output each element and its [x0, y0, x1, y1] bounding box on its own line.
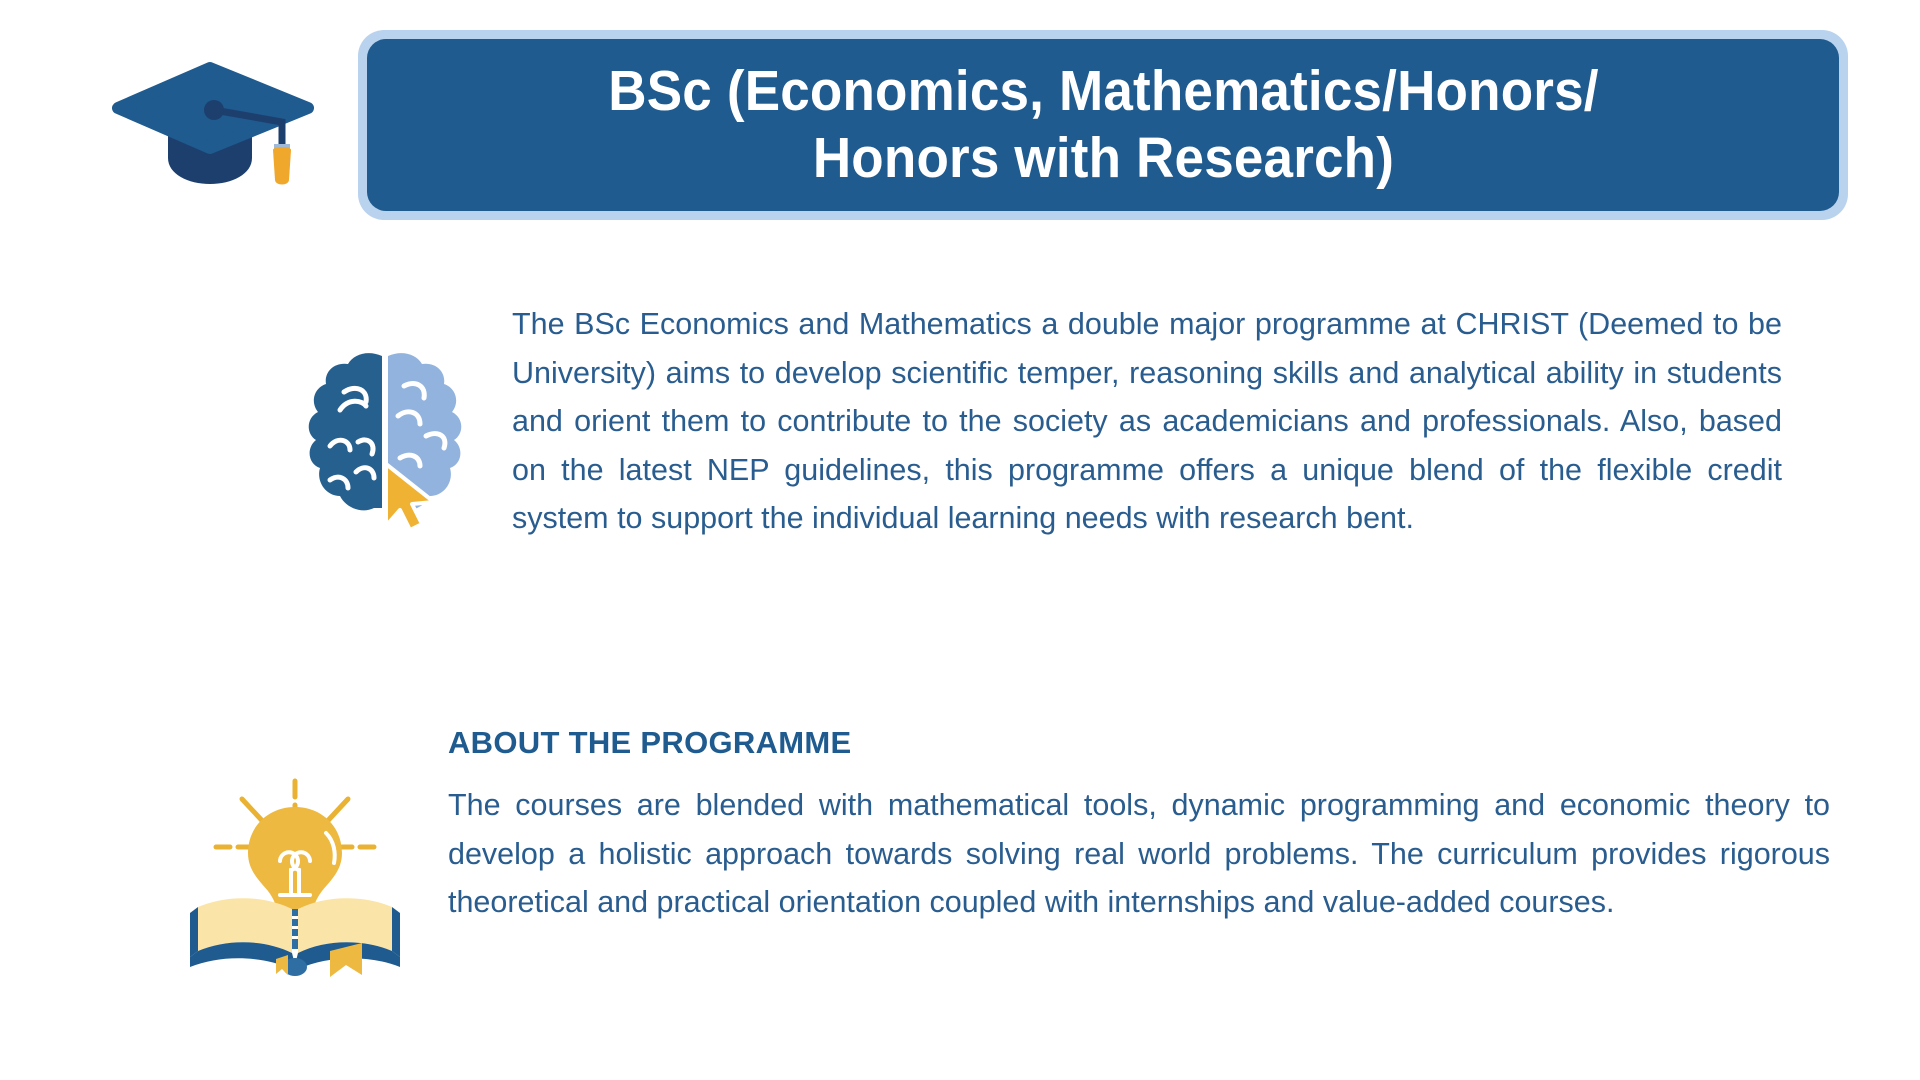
graduation-cap-icon: [112, 52, 336, 188]
title-plate: BSc (Economics, Mathematics/Honors/ Hono…: [358, 30, 1848, 220]
brain-with-cursor-icon: [300, 340, 470, 530]
intro-paragraph: The BSc Economics and Mathematics a doub…: [512, 300, 1782, 543]
header: BSc (Economics, Mathematics/Honors/ Hono…: [0, 0, 1920, 232]
page-title: BSc (Economics, Mathematics/Honors/ Hono…: [608, 58, 1598, 193]
about-paragraph: The courses are blended with mathematica…: [448, 781, 1830, 927]
title-plate-inner: BSc (Economics, Mathematics/Honors/ Hono…: [367, 39, 1839, 211]
lightbulb-on-book-icon: [180, 775, 410, 980]
about-heading: ABOUT THE PROGRAMME: [448, 725, 1828, 761]
slide-root: BSc (Economics, Mathematics/Honors/ Hono…: [0, 0, 1920, 1080]
